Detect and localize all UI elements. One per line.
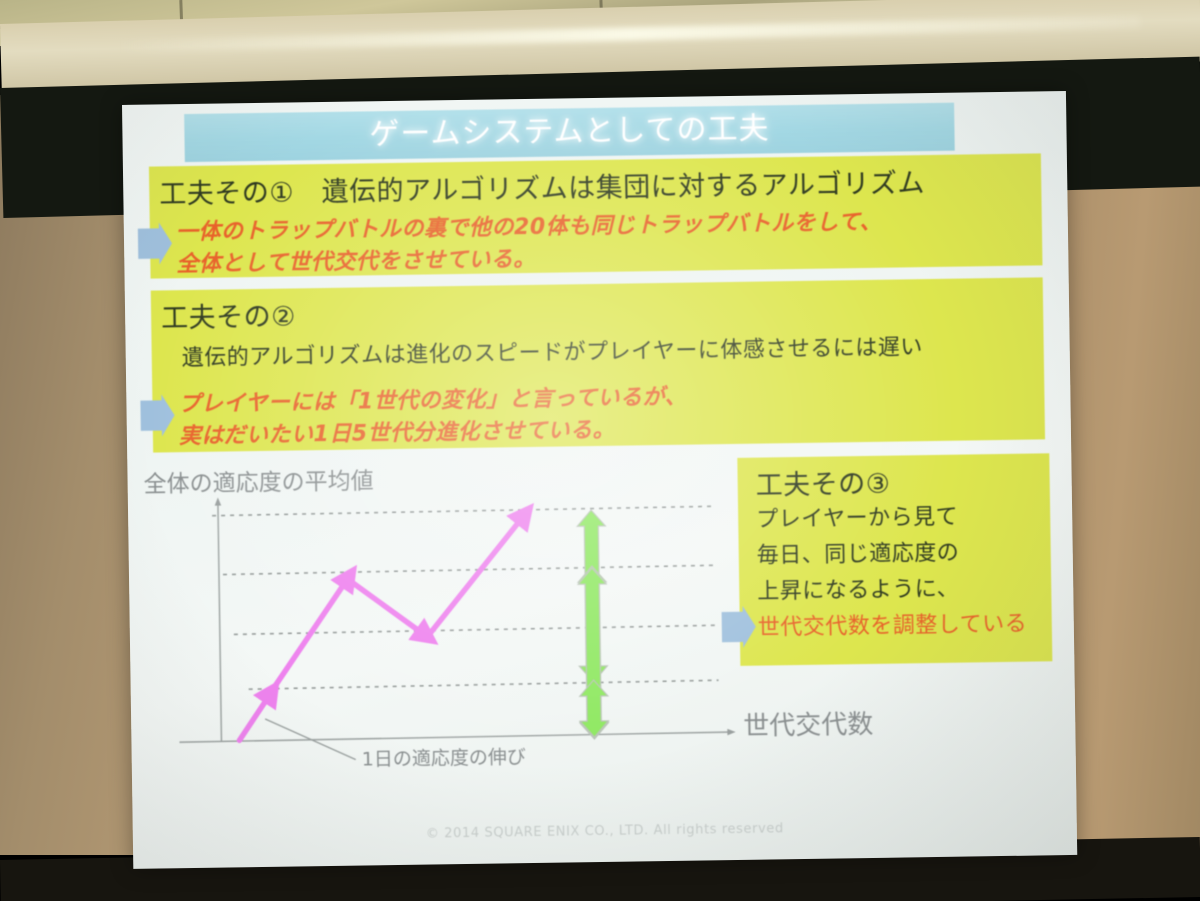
section-3-highlight-line-1: 世代交代数を調整している [758, 606, 1028, 642]
fitness-chart: 全体の適応度の平均値 世代交代数 1日の適応度の伸び [135, 454, 750, 813]
section-3-body-line-2: 毎日、同じ適応度の [756, 535, 959, 570]
slide-content: ゲームシステムとしての工夫 工夫その① 遺伝的アルゴリズムは集団に対するアルゴリ… [122, 91, 1077, 869]
fitness-progression-line [236, 514, 528, 740]
section-3-body-line-1: プレイヤーから見て [756, 499, 958, 534]
section-2-highlight-line-2: 実はだいたい1日5世代分進化させている。 [179, 412, 616, 450]
photo-of-projected-slide: ゲームシステムとしての工夫 工夫その① 遺伝的アルゴリズムは集団に対するアルゴリ… [0, 0, 1200, 901]
slide-footer-copyright: © 2014 SQUARE ENIX CO., LTD. All rights … [133, 817, 1077, 846]
gridline-level-2 [234, 625, 718, 634]
section-1-highlight-line-2: 全体として世代交代をさせている。 [176, 241, 536, 278]
chart-y-axis [218, 502, 222, 742]
chart-annotation-label: 1日の適応度の伸び [362, 742, 526, 771]
equal-gain-arrow-4 [580, 680, 609, 737]
chart-y-axis-label: 全体の適応度の平均値 [143, 461, 373, 498]
section-2-heading: 工夫その② [161, 294, 296, 335]
equal-gain-arrow-group [577, 510, 608, 739]
chart-x-axis-label: 世代交代数 [743, 704, 874, 743]
chart-x-axis [179, 732, 731, 742]
gridline-level-3 [223, 565, 717, 574]
gridline-level-4 [212, 506, 716, 515]
slide-title: ゲームシステムとしての工夫 [184, 103, 955, 162]
gridline-level-1 [249, 680, 719, 689]
slide-title-bar: ゲームシステムとしての工夫 [184, 103, 955, 162]
projection-screen: ゲームシステムとしての工夫 工夫その① 遺伝的アルゴリズムは集団に対するアルゴリ… [122, 91, 1077, 869]
section-3-heading: 工夫その③ [755, 462, 890, 503]
section-3-body-line-3: 上昇になるように、 [757, 571, 959, 606]
